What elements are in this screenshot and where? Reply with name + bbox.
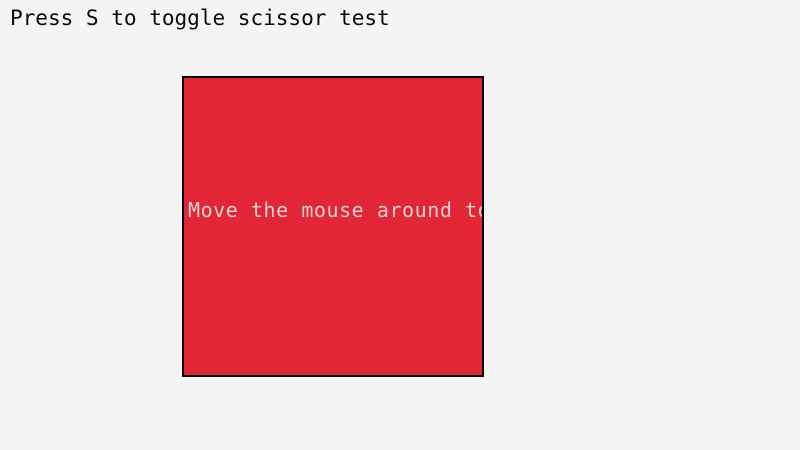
scissor-region-fill bbox=[184, 78, 482, 375]
app-canvas: Press S to toggle scissor test Move the … bbox=[0, 0, 800, 450]
instruction-text: Press S to toggle scissor test bbox=[10, 7, 390, 29]
scissor-message-text: Move the mouse around to reveal this tex… bbox=[188, 200, 484, 220]
scissor-test-region[interactable]: Move the mouse around to reveal this tex… bbox=[182, 76, 484, 377]
